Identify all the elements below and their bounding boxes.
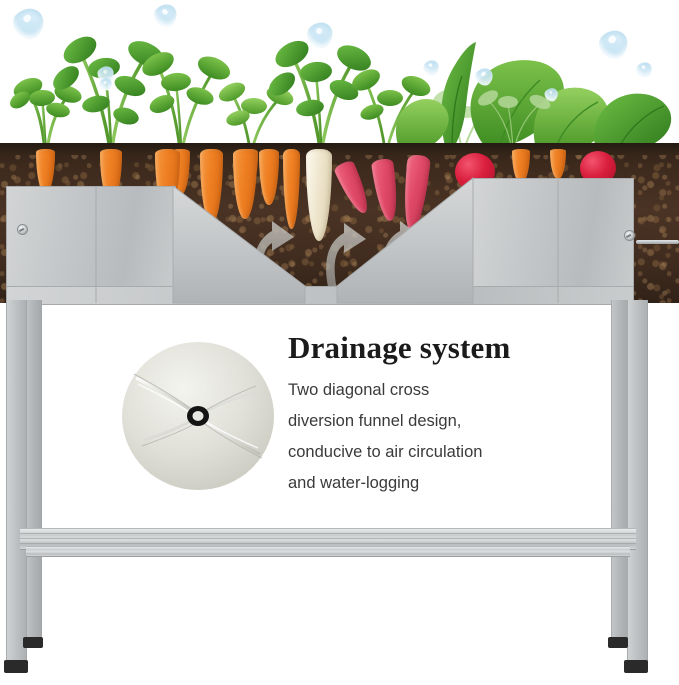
drainage-disc-illustration [118, 336, 278, 496]
foot-cap-front-left [4, 660, 28, 673]
foot-cap-back-left [23, 637, 43, 648]
frame-screw-right [624, 230, 635, 241]
leg-front-left [6, 300, 27, 664]
annotation-line: and water-logging [288, 468, 588, 499]
foot-cap-front-right [624, 660, 648, 673]
shelf-front-edge [26, 546, 630, 557]
leg-front-right [627, 300, 648, 664]
foot-cap-back-right [608, 637, 628, 648]
annotation-line: conducive to air circulation [288, 437, 588, 468]
frame-screw-left [17, 224, 28, 235]
product-image-canvas: Drainage system Two diagonal cross diver… [0, 0, 679, 685]
annotation-line: Two diagonal cross [288, 375, 588, 406]
annotation-heading: Drainage system [288, 330, 511, 366]
annotation-body: Two diagonal cross diversion funnel desi… [288, 375, 588, 499]
side-support-rod [636, 240, 679, 244]
annotation-line: diversion funnel design, [288, 406, 588, 437]
planter-slanted-faces [0, 176, 679, 306]
